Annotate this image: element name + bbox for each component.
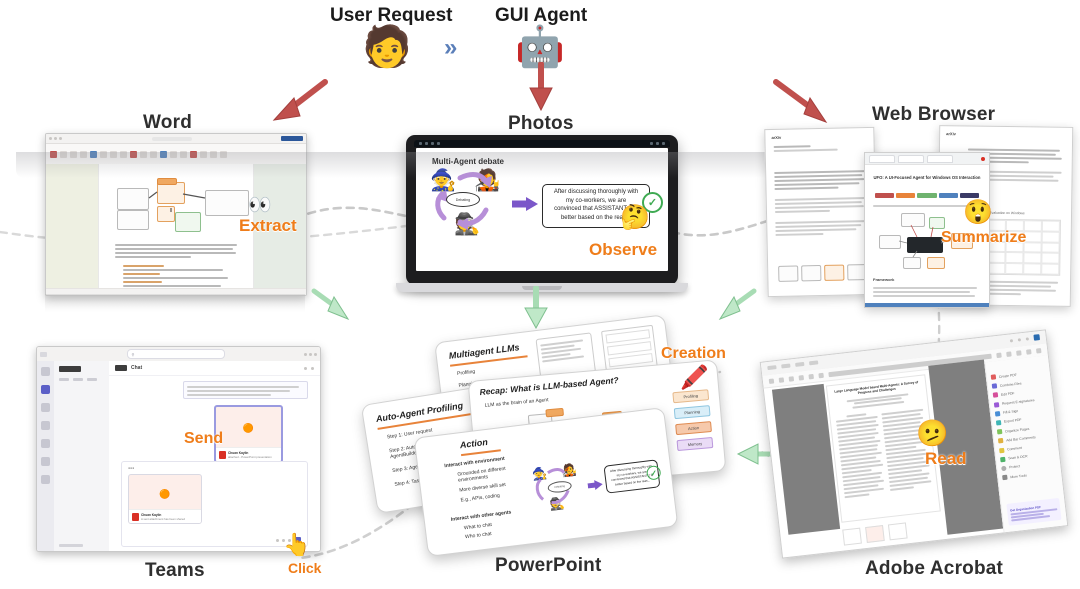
tool-label: More Tools xyxy=(1010,473,1027,479)
site-name: arXiv xyxy=(946,131,956,136)
teams-conversation-pane[interactable]: Chat 🟠 Chuan Kaylin attached - PowerPoin xyxy=(109,361,320,551)
action-label-send: Send xyxy=(184,430,223,448)
files-icon[interactable] xyxy=(41,457,50,466)
rotate-icon[interactable] xyxy=(818,372,824,378)
video-icon[interactable] xyxy=(311,367,314,370)
maximize-icon[interactable] xyxy=(309,353,312,356)
acrobat-pdf-page[interactable]: Large Language Model based Multi-Agents:… xyxy=(826,374,941,522)
thought-bubble: Debating xyxy=(446,192,480,207)
green-arrow-to-teams xyxy=(308,285,356,325)
gui-agent-label: GUI Agent xyxy=(495,5,587,27)
tool-label: Edit PDF xyxy=(1001,391,1015,397)
message-attachment-footer[interactable]: Chuan Kaylin attached - PowerPoint prese… xyxy=(216,447,281,461)
search-input[interactable]: ⚲ xyxy=(127,349,225,359)
tool-label: Fill & Sign xyxy=(1003,409,1019,415)
emoji-icon[interactable] xyxy=(276,539,279,542)
browser-tab[interactable] xyxy=(927,155,953,163)
laptop-window-bar xyxy=(414,140,670,147)
message-card-draft[interactable]: 🟠 Chuan Kaylin A sent attachment has bee… xyxy=(128,474,202,524)
tool-label: Scan & OCR xyxy=(1008,454,1028,460)
close-icon[interactable] xyxy=(314,353,317,356)
word-titlebar xyxy=(46,134,306,144)
pdf-icon xyxy=(219,451,226,459)
person-icon: 🧑 xyxy=(362,27,412,67)
maximize-icon[interactable] xyxy=(1018,338,1021,341)
page-thumbnail[interactable] xyxy=(888,522,908,540)
title-underline xyxy=(461,449,501,455)
browser-tab-bar[interactable] xyxy=(865,153,989,165)
app-label-teams: Teams xyxy=(145,560,205,582)
window-dot xyxy=(437,142,440,145)
app-label-web-browser: Web Browser xyxy=(872,104,995,126)
pdf-icon xyxy=(132,513,139,521)
window-dot xyxy=(650,142,653,145)
page-thumbnail[interactable] xyxy=(865,525,885,543)
word-document-page[interactable] xyxy=(98,164,254,291)
titlebar-dot xyxy=(49,137,52,140)
teams-titlebar: ⚲ xyxy=(37,347,320,362)
word-left-pane xyxy=(46,164,98,295)
double-chevron-right-icon: » xyxy=(444,36,457,60)
acrobat-promo-card[interactable]: Get Organization PDF xyxy=(1006,498,1061,526)
tool-label: Organize Pages xyxy=(1005,426,1030,433)
teams-chat-list[interactable] xyxy=(54,361,110,551)
action-label-observe: Observe xyxy=(589,240,657,260)
minimize-icon[interactable] xyxy=(304,353,307,356)
browser-tab[interactable] xyxy=(869,155,895,163)
message-composer[interactable]: ●●● 🟠 Chuan Kaylin A sent attachment has… xyxy=(121,461,308,547)
comment-icon[interactable] xyxy=(1016,350,1022,356)
sign-icon[interactable] xyxy=(1036,348,1042,354)
teams-window[interactable]: ⚲ xyxy=(36,346,321,552)
tool-label: Request E-signatures xyxy=(1002,398,1035,406)
ppt-slide-title: Recap: What is LLM-based Agent? xyxy=(479,375,619,397)
action-label-extract: Extract xyxy=(239,216,297,236)
highlight-icon[interactable] xyxy=(996,352,1002,358)
acrobat-tool-item[interactable]: More Tools xyxy=(1002,469,1057,480)
window-dot xyxy=(431,142,434,145)
tool-label: Export PDF xyxy=(1004,418,1022,424)
diagram-canvas: User Request 🧑 » GUI Agent 🤖 Word xyxy=(0,0,1080,589)
browser-window-left[interactable]: arXiv xyxy=(764,127,877,297)
message-card-selected[interactable]: 🟠 Chuan Kaylin attached - PowerPoint pre… xyxy=(214,405,283,463)
draft-attachment-footer[interactable]: Chuan Kaylin A sent attachment has been … xyxy=(129,509,201,523)
action-label-summarize: Summarize xyxy=(941,229,1026,247)
ppt-bullet: Grounded on different environments xyxy=(457,464,518,483)
ppt-slide-title: Action xyxy=(459,437,488,450)
teams-icon[interactable] xyxy=(41,403,50,412)
user-request-label: User Request xyxy=(330,5,453,27)
window-dot xyxy=(425,142,428,145)
eyes-icon: 👀 xyxy=(248,196,272,215)
green-arrow-to-powerpoint xyxy=(522,286,550,332)
robot-icon: 🤖 xyxy=(515,27,565,67)
tool-label: Protect xyxy=(1009,465,1020,470)
more-icon[interactable] xyxy=(304,367,307,370)
acrobat-window[interactable]: Large Language Model based Multi-Agents:… xyxy=(760,329,1069,558)
writing-hand-icon: 🖍️ xyxy=(680,366,709,389)
ppt-chip: Profiling xyxy=(672,389,709,403)
apps-icon[interactable] xyxy=(41,475,50,484)
draft-preview: A sent attachment has been shared xyxy=(141,517,185,521)
app-label-adobe-acrobat: Adobe Acrobat xyxy=(865,558,1003,580)
tool-label: Comment xyxy=(1007,446,1022,452)
raised-eyebrow-face-icon: 🫤 xyxy=(916,420,948,446)
window-dot xyxy=(419,142,422,145)
select-tool-icon[interactable] xyxy=(769,378,775,384)
acrobat-frame: Large Language Model based Multi-Agents:… xyxy=(760,329,1069,558)
app-label-photos: Photos xyxy=(508,113,574,135)
ppt-bullet: Who to chat xyxy=(465,531,492,540)
browser-tab[interactable] xyxy=(898,155,924,163)
draw-icon[interactable] xyxy=(1006,351,1012,357)
teams-nav-rail[interactable] xyxy=(37,361,54,551)
ppt-debate-figure: 🧙 🧑‍🎤 🕵 Debating xyxy=(531,460,591,522)
speech-line-1: After discussing thoroughly with xyxy=(547,188,645,197)
scrollbar[interactable] xyxy=(865,303,989,307)
tool-label: Add Bar Comments xyxy=(1006,435,1036,442)
titlebar-dot xyxy=(59,137,62,140)
cursor-click-icon: 👆 xyxy=(283,534,310,556)
red-arrow-to-browser xyxy=(770,78,830,124)
ppt-bullet: What to chat xyxy=(464,522,493,531)
window-dot xyxy=(662,142,665,145)
ppt-chip: Memory xyxy=(677,437,714,451)
page-fit-icon[interactable] xyxy=(808,373,814,379)
action-label-creation: Creation xyxy=(661,345,726,363)
minimize-icon[interactable] xyxy=(1010,339,1013,342)
purple-arrow-to-speech xyxy=(512,196,540,212)
paper-title: UFO: A UI-Focused Agent for Windows OS I… xyxy=(873,175,981,181)
message-preview: attached - PowerPoint presentation xyxy=(228,455,272,459)
chat-title: Chat xyxy=(131,365,142,371)
activity-icon[interactable] xyxy=(41,367,50,376)
zoom-out-icon[interactable] xyxy=(789,376,795,382)
ppt-chip: Planning xyxy=(674,405,711,419)
action-label-read: Read xyxy=(925,449,967,469)
app-label-word: Word xyxy=(143,112,192,134)
word-figure xyxy=(113,178,239,234)
page-thumbnail[interactable] xyxy=(842,528,862,546)
tool-label: Create PDF xyxy=(999,372,1017,378)
ppt-bullet: E.g., APIs, coding xyxy=(460,493,500,504)
calendar-icon[interactable] xyxy=(41,421,50,430)
stamp-icon[interactable] xyxy=(1026,349,1032,355)
green-arrow-to-acrobat xyxy=(712,285,760,325)
close-icon[interactable] xyxy=(981,157,985,161)
red-arrow-to-word xyxy=(270,78,330,122)
red-arrow-to-photos xyxy=(528,62,554,116)
ppt-chip: Action xyxy=(675,421,712,435)
hand-tool-icon[interactable] xyxy=(779,377,785,383)
titlebar-dot xyxy=(54,137,57,140)
tool-label: Combine Files xyxy=(1000,381,1022,387)
account-icon[interactable] xyxy=(1033,334,1040,341)
word-reflection xyxy=(45,294,305,312)
site-name: arXiv xyxy=(771,135,781,140)
ppt-bullet: Interact with other agents xyxy=(451,509,512,522)
chat-icon[interactable] xyxy=(41,385,50,394)
app-label-powerpoint: PowerPoint xyxy=(495,555,602,577)
thinking-face-icon: 🤔 xyxy=(620,206,650,230)
close-icon[interactable] xyxy=(1026,337,1029,340)
section-heading: Framework xyxy=(873,277,894,282)
calls-icon[interactable] xyxy=(41,439,50,448)
zoom-in-icon[interactable] xyxy=(798,375,804,381)
action-label-click: Click xyxy=(288,560,321,576)
window-dot xyxy=(656,142,659,145)
ppt-bullet: Profiling xyxy=(457,369,476,377)
astonished-face-icon: 😲 xyxy=(963,201,993,225)
